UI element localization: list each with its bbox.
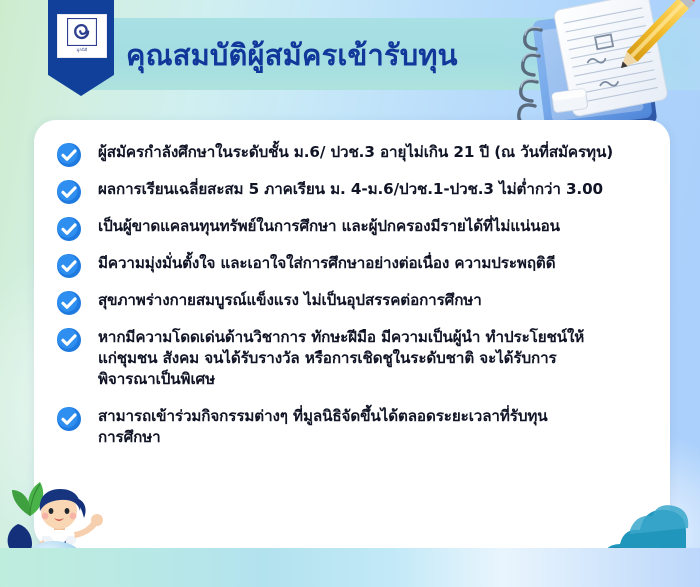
list-item-label: ผู้สมัครกำลังศึกษาในระดับชั้น ม.6/ ปวช.3… [98, 142, 654, 163]
list-item-label-line-2: การศึกษา [98, 427, 654, 448]
check-circle-icon [56, 216, 82, 242]
list-item: สามารถเข้าร่วมกิจกรรมต่างๆ ที่มูลนิธิจัด… [54, 406, 654, 448]
list-item-label: เป็นผู้ขาดแคลนทุนทรัพย์ในการศึกษา และผู้… [98, 216, 654, 237]
logo-caption: มูลนิธิ [58, 46, 106, 53]
list-item: หากมีความโดดเด่นด้านวิชาการ ทักษะฝีมือ ม… [54, 327, 654, 390]
list-item: เป็นผู้ขาดแคลนทุนทรัพย์ในการศึกษา และผู้… [54, 216, 654, 237]
list-item-label-line-1: สามารถเข้าร่วมกิจกรรมต่างๆ ที่มูลนิธิจัด… [98, 406, 654, 427]
spiral-notebook-with-pencil-icon [495, 0, 695, 134]
page-title: คุณสมบัติผู้สมัครเข้ารับทุน [126, 30, 546, 80]
check-circle-icon [56, 142, 82, 168]
check-circle-icon [56, 406, 82, 432]
spiral-logo-icon [67, 18, 97, 46]
requirements-list: ผู้สมัครกำลังศึกษาในระดับชั้น ม.6/ ปวช.3… [54, 142, 654, 464]
foundation-logo: มูลนิธิ [57, 14, 107, 58]
bottom-gradient-strip [0, 548, 700, 587]
check-circle-icon [56, 327, 82, 353]
list-item-label: ผลการเรียนเฉลี่ยสะสม 5 ภาคเรียน ม. 4-ม.6… [98, 179, 654, 200]
check-circle-icon [56, 253, 82, 279]
list-item-label-line-1: หากมีความโดดเด่นด้านวิชาการ ทักษะฝีมือ ม… [98, 327, 654, 348]
list-item: ผู้สมัครกำลังศึกษาในระดับชั้น ม.6/ ปวช.3… [54, 142, 654, 163]
list-item-label: สุขภาพร่างกายสมบูรณ์แข็งแรง ไม่เป็นอุปสร… [98, 290, 654, 311]
infographic-poster: คุณสมบัติผู้สมัครเข้ารับทุน มูลนิธิ [0, 0, 700, 587]
list-item: ผลการเรียนเฉลี่ยสะสม 5 ภาคเรียน ม. 4-ม.6… [54, 179, 654, 200]
list-item-label: มีความมุ่งมั่นตั้งใจ และเอาใจใส่การศึกษา… [98, 253, 654, 274]
list-item-label-line-2: แก่ชุมชน สังคม จนได้รับรางวัล หรือการเชิ… [98, 348, 654, 369]
list-item-label-line-3: พิจารณาเป็นพิเศษ [98, 369, 654, 390]
check-circle-icon [56, 179, 82, 205]
check-circle-icon [56, 290, 82, 316]
list-item: มีความมุ่งมั่นตั้งใจ และเอาใจใส่การศึกษา… [54, 253, 654, 274]
list-item: สุขภาพร่างกายสมบูรณ์แข็งแรง ไม่เป็นอุปสร… [54, 290, 654, 311]
